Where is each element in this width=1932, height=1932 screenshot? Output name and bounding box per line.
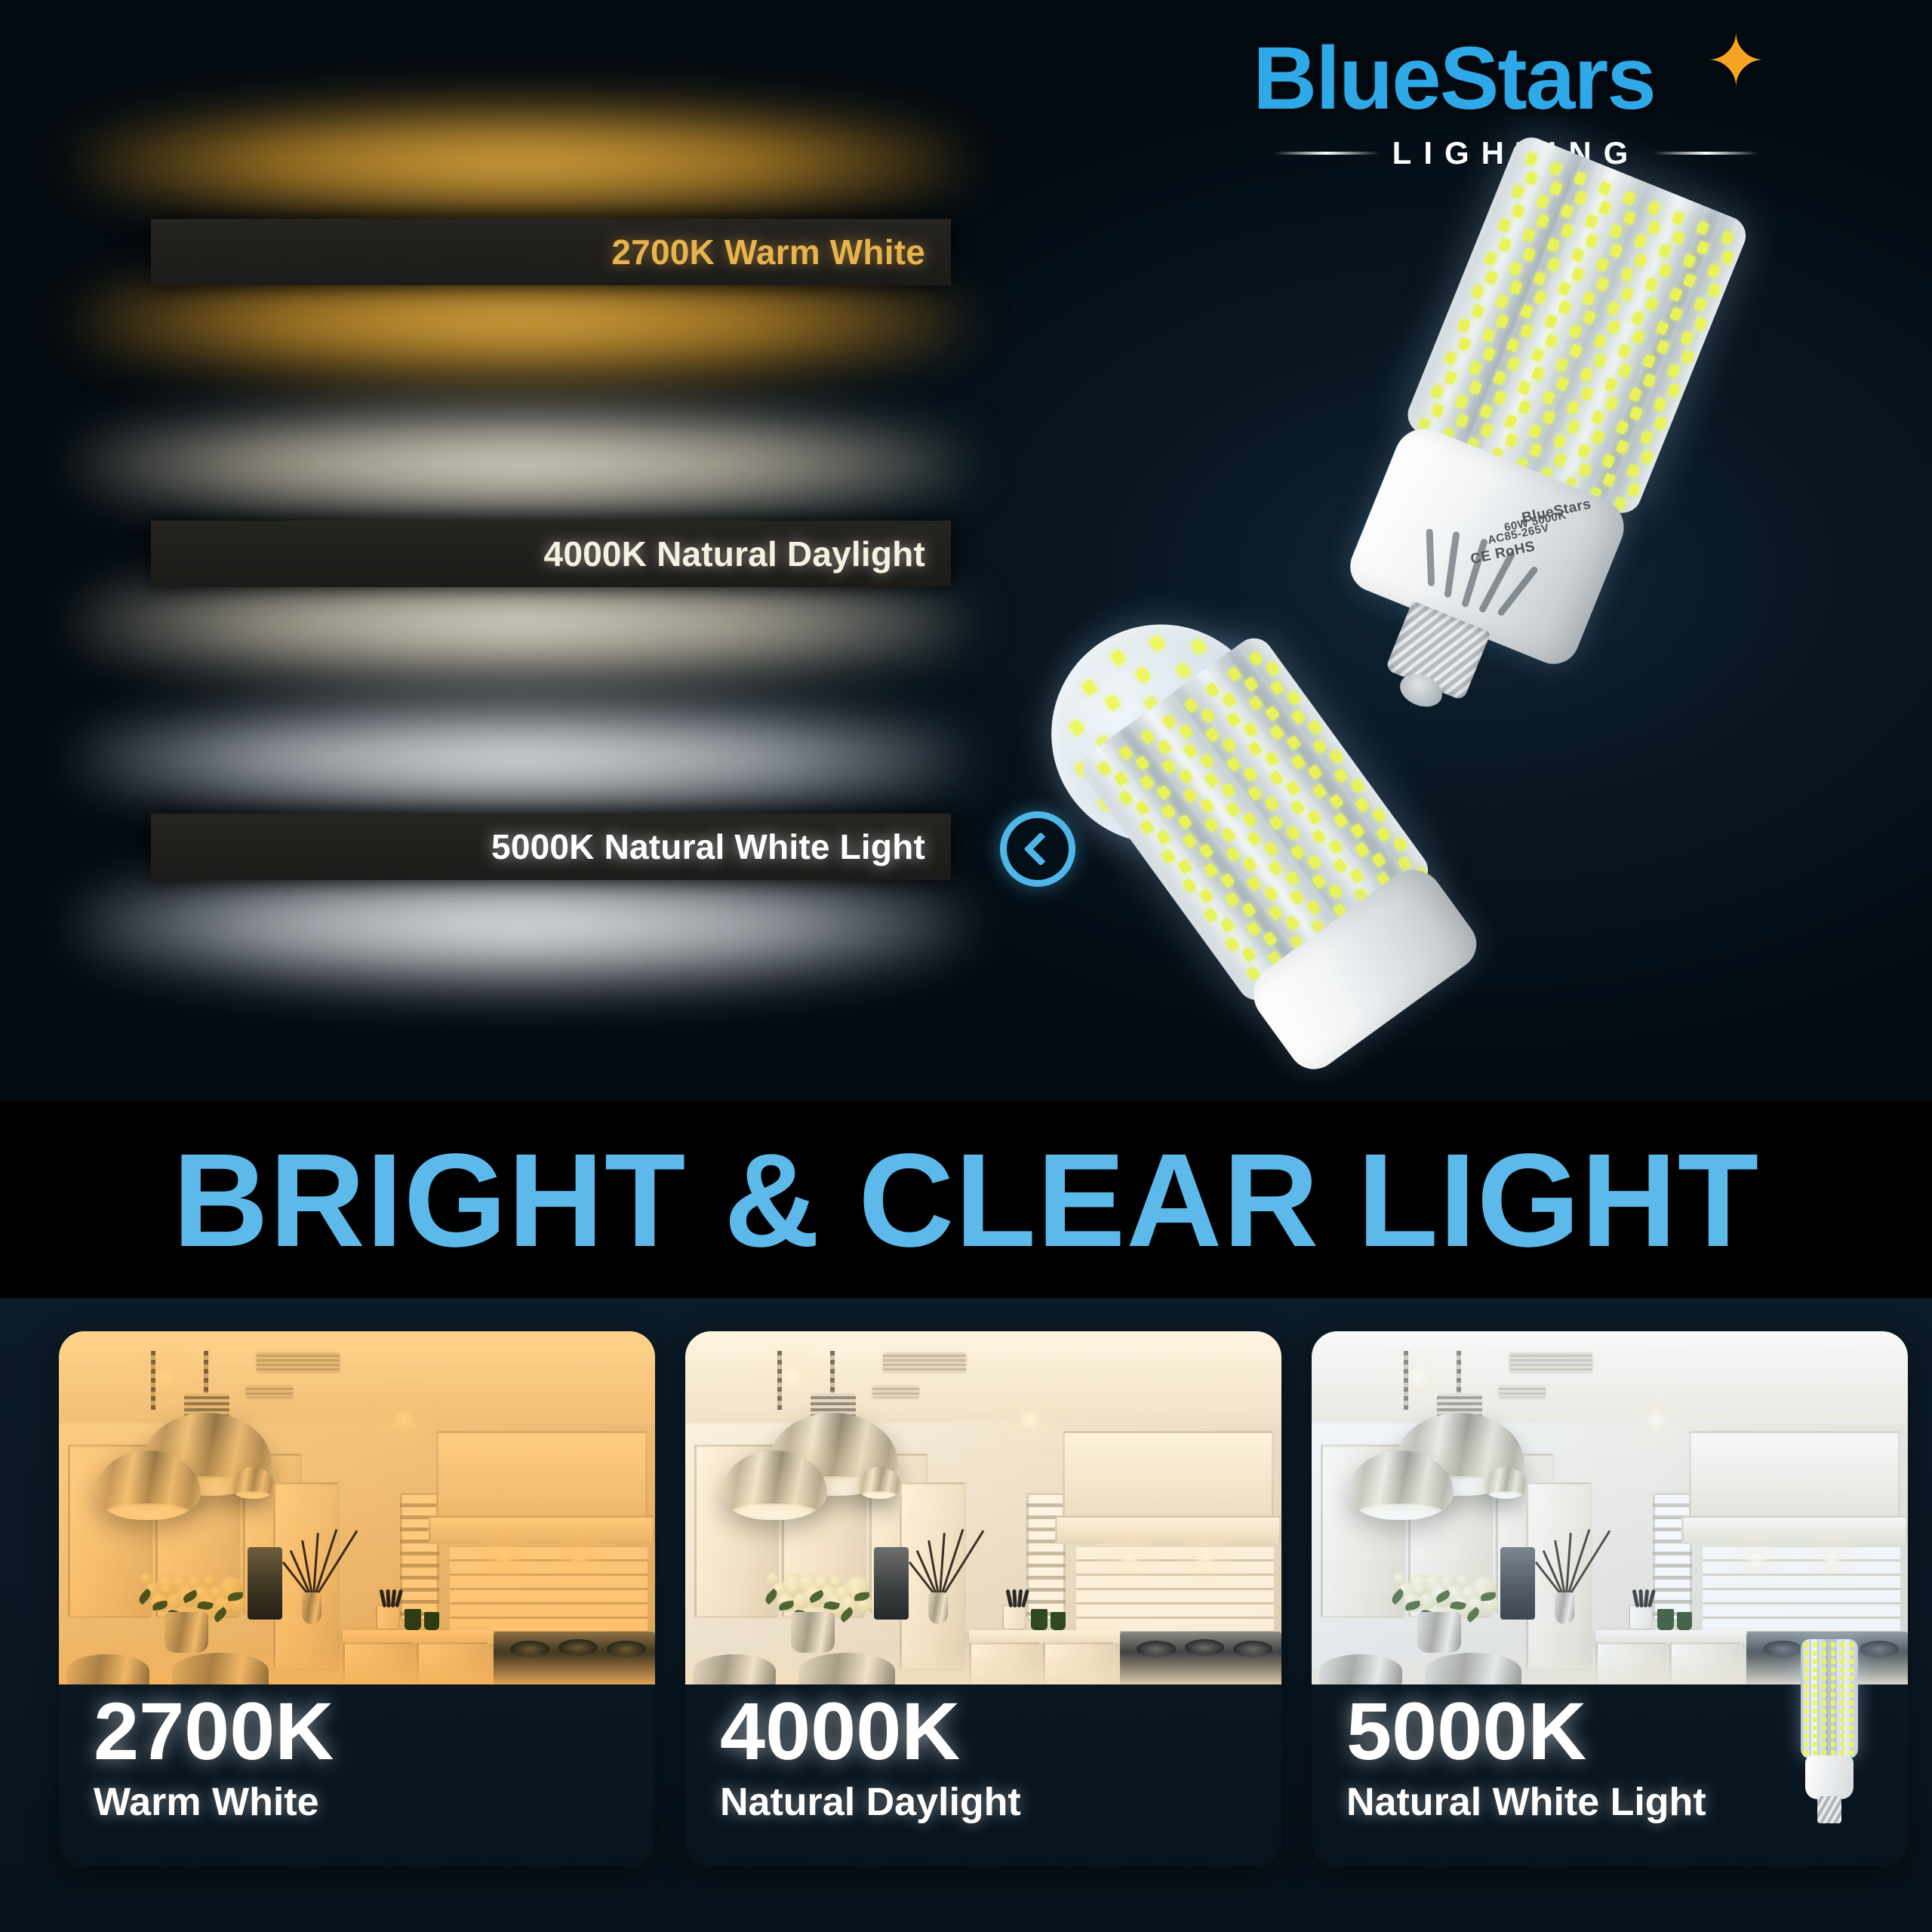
- brand-name: BlueStars: [1253, 34, 1766, 123]
- led-chip: [1081, 679, 1098, 697]
- label-text-4000k: 4000K Natural Daylight: [544, 534, 925, 574]
- led-chip: [1457, 318, 1471, 333]
- led-chip: [1840, 1667, 1844, 1672]
- led-chip: [1644, 297, 1658, 312]
- led-chip: [1591, 410, 1604, 425]
- mini-bulb-base: [1805, 1755, 1854, 1799]
- led-chip: [1222, 692, 1237, 708]
- led-chip: [1822, 1642, 1826, 1647]
- led-chip: [1431, 404, 1444, 419]
- led-chip: [1574, 171, 1587, 186]
- led-chip: [1822, 1700, 1826, 1706]
- led-chip: [1633, 234, 1647, 249]
- led-chip: [1680, 330, 1694, 345]
- led-chip: [1329, 794, 1344, 810]
- led-chip: [1221, 737, 1236, 753]
- led-chip: [1149, 634, 1166, 651]
- led-chip: [1580, 367, 1593, 382]
- led-chip: [1658, 263, 1672, 278]
- led-chip: [1644, 277, 1658, 292]
- led-chip: [1840, 1750, 1844, 1755]
- label-bar-5000k: 5000K Natural White Light: [151, 814, 951, 880]
- led-chip: [1496, 314, 1509, 329]
- led-chip: [1831, 1651, 1835, 1656]
- led-chip: [1263, 841, 1278, 857]
- led-chip: [1183, 743, 1198, 758]
- comparison-card[interactable]: 2700KWarm White: [59, 1331, 655, 1867]
- led-chip: [1204, 727, 1220, 743]
- led-chip: [1560, 205, 1574, 220]
- led-chip: [1204, 817, 1219, 833]
- color-temperature-tint: [59, 1331, 655, 1684]
- led-chip: [1247, 876, 1262, 892]
- led-chip: [1607, 320, 1620, 335]
- led-chip: [1287, 690, 1302, 706]
- led-chip: [1204, 772, 1220, 788]
- led-chip: [1161, 758, 1177, 774]
- led-chip: [1654, 416, 1667, 431]
- led-chip: [1804, 1651, 1808, 1656]
- led-chip: [1593, 353, 1607, 368]
- led-chip: [1494, 390, 1507, 405]
- led-chip: [1542, 390, 1555, 405]
- mini-bulb-cylinder: [1801, 1639, 1858, 1758]
- led-chip: [1623, 191, 1636, 206]
- led-chip: [1161, 713, 1177, 729]
- led-chip: [1355, 842, 1370, 858]
- led-chip: [1203, 907, 1218, 923]
- led-chip: [1647, 220, 1661, 235]
- led-chip: [1225, 891, 1240, 907]
- led-chip: [1642, 373, 1656, 388]
- led-chip: [1285, 825, 1300, 841]
- card-temperature: 4000K: [720, 1690, 1021, 1772]
- led-chip: [1350, 823, 1365, 839]
- led-chip: [1504, 433, 1518, 448]
- led-chip: [1849, 1675, 1854, 1681]
- led-chip: [1509, 281, 1523, 296]
- led-chip: [1849, 1734, 1854, 1739]
- led-chip: [1161, 804, 1176, 820]
- led-chip: [1683, 273, 1697, 288]
- mini-bulb-screw-base: [1817, 1796, 1841, 1823]
- led-chip: [1813, 1659, 1817, 1664]
- led-chip: [1183, 698, 1198, 714]
- led-chip: [1831, 1742, 1835, 1747]
- led-chip: [1707, 263, 1721, 278]
- led-chip: [1707, 283, 1721, 298]
- led-chip: [1813, 1700, 1817, 1706]
- led-chip: [1553, 453, 1567, 468]
- led-chip: [1528, 423, 1542, 438]
- led-chip: [1113, 771, 1128, 787]
- led-chip: [1529, 443, 1543, 458]
- led-chip: [1157, 740, 1172, 755]
- led-chip: [1243, 767, 1258, 783]
- led-chip: [1582, 291, 1595, 306]
- led-chip: [1656, 320, 1669, 335]
- led-chip: [1518, 400, 1531, 415]
- led-chip: [1118, 790, 1133, 806]
- led-chip: [1571, 248, 1585, 263]
- banner-headline: BRIGHT & CLEAR LIGHT: [173, 1124, 1760, 1277]
- led-chip: [1307, 810, 1322, 826]
- glow-band-4000k-upper: [75, 408, 966, 521]
- led-chip: [1822, 1750, 1826, 1755]
- led-chip: [1721, 250, 1734, 265]
- card-label-group: 5000KNatural White Light: [1346, 1690, 1706, 1825]
- led-chip: [1269, 725, 1284, 741]
- led-chip: [1840, 1659, 1844, 1664]
- comparison-card[interactable]: 5000KNatural White Light: [1312, 1331, 1908, 1867]
- star-icon: ✦: [1706, 29, 1774, 97]
- led-chip: [1312, 783, 1327, 799]
- led-chip: [1831, 1717, 1835, 1722]
- led-chip: [1509, 261, 1522, 276]
- label-bar-2700k: 2700K Warm White: [151, 219, 951, 285]
- led-chip: [1225, 847, 1240, 863]
- led-chip: [1247, 786, 1263, 801]
- led-chip: [1840, 1734, 1844, 1739]
- card-description: Warm White: [94, 1780, 334, 1825]
- led-chip: [1804, 1667, 1808, 1672]
- led-chip: [1634, 254, 1647, 269]
- led-chip: [1831, 1709, 1835, 1714]
- headline-banner: BRIGHT & CLEAR LIGHT: [0, 1103, 1932, 1298]
- led-chip: [1291, 799, 1306, 815]
- led-chip: [1813, 1725, 1817, 1730]
- led-chip: [1507, 357, 1521, 372]
- led-chip: [1524, 152, 1538, 167]
- led-chip: [1190, 638, 1207, 655]
- led-chip: [1247, 831, 1262, 847]
- led-chip: [1680, 349, 1694, 365]
- led-chip: [1840, 1742, 1844, 1747]
- led-chip: [1118, 745, 1134, 761]
- led-chip: [1653, 396, 1666, 411]
- led-chip: [1804, 1692, 1808, 1697]
- led-chip: [1179, 724, 1194, 740]
- led-chip: [1531, 367, 1545, 382]
- led-chip: [1813, 1651, 1817, 1656]
- led-chip: [1720, 230, 1734, 245]
- led-chip: [1455, 394, 1469, 409]
- led-chip: [1549, 162, 1563, 177]
- led-chip: [1580, 386, 1594, 401]
- led-chip: [1618, 363, 1632, 378]
- led-chip: [1204, 863, 1219, 878]
- led-chip: [1183, 788, 1198, 804]
- led-chip: [1496, 294, 1509, 309]
- led-chip: [1585, 234, 1598, 249]
- led-chip: [1849, 1684, 1854, 1689]
- led-chip: [1198, 888, 1214, 904]
- led-chip: [1307, 764, 1322, 780]
- card-description: Natural White Light: [1346, 1780, 1706, 1825]
- led-chip: [1290, 844, 1305, 860]
- led-chip: [1312, 829, 1327, 844]
- led-chip: [1642, 353, 1656, 368]
- led-chip: [1672, 211, 1685, 226]
- led-chip: [1355, 797, 1370, 813]
- card-description: Natural Daylight: [720, 1780, 1021, 1825]
- led-chip: [1156, 785, 1171, 801]
- led-chip: [1328, 884, 1343, 900]
- led-chip: [1246, 921, 1261, 937]
- led-chip: [1640, 449, 1654, 464]
- led-chip: [1822, 1717, 1826, 1722]
- led-chip: [1822, 1709, 1826, 1714]
- led-chip: [1840, 1651, 1844, 1656]
- led-chip: [1822, 1651, 1826, 1656]
- led-chip: [1804, 1675, 1808, 1681]
- led-chip: [1629, 406, 1642, 421]
- led-chip: [1469, 380, 1482, 395]
- led-chip: [1199, 798, 1214, 814]
- led-chip: [1696, 240, 1709, 255]
- led-chip: [1484, 251, 1498, 266]
- led-chip: [1639, 430, 1653, 445]
- led-chip: [1804, 1717, 1808, 1722]
- led-chip: [1244, 676, 1259, 692]
- led-chip: [1549, 180, 1563, 195]
- led-chip: [1831, 1750, 1835, 1755]
- led-chip: [1135, 755, 1150, 771]
- cool-tone-overlay: [1312, 1331, 1908, 1684]
- led-chip: [1156, 829, 1171, 845]
- led-chip: [1205, 682, 1220, 698]
- led-chip: [1199, 843, 1214, 859]
- led-chip: [1849, 1700, 1854, 1706]
- led-chip: [1226, 756, 1241, 772]
- led-chip: [1558, 300, 1571, 315]
- led-chip: [1609, 224, 1623, 239]
- led-chip: [1822, 1742, 1826, 1747]
- led-chip: [1269, 770, 1284, 786]
- led-chip: [1224, 937, 1239, 952]
- led-chip: [1840, 1700, 1844, 1706]
- led-chip: [1068, 718, 1085, 736]
- led-chip: [1569, 324, 1583, 339]
- led-chip: [1308, 719, 1323, 735]
- led-chip: [1547, 238, 1561, 253]
- led-chip: [1593, 334, 1607, 349]
- led-chip: [1569, 343, 1583, 358]
- led-chip: [1220, 827, 1235, 843]
- led-chip: [1291, 709, 1306, 725]
- led-chip: [1831, 1659, 1835, 1664]
- led-chip: [1220, 918, 1235, 934]
- led-chip: [1484, 270, 1498, 285]
- led-chip: [1617, 343, 1631, 358]
- led-chip: [1604, 396, 1618, 411]
- led-chip: [1536, 214, 1549, 229]
- led-chip: [1285, 870, 1300, 886]
- led-chip: [1178, 769, 1193, 785]
- led-chip: [1813, 1667, 1817, 1672]
- led-chip: [1558, 281, 1571, 296]
- led-chip: [1333, 858, 1348, 874]
- led-chip: [1804, 1709, 1808, 1714]
- led-chip: [1813, 1675, 1817, 1681]
- led-chip: [1311, 874, 1326, 890]
- led-chip: [1134, 666, 1152, 684]
- led-chip: [1813, 1734, 1817, 1739]
- led-chip: [1471, 285, 1484, 300]
- led-chip: [1571, 267, 1585, 282]
- led-chip: [1804, 1642, 1808, 1647]
- led-chip: [1444, 371, 1458, 386]
- led-chip: [1647, 201, 1660, 216]
- led-chip: [1534, 291, 1547, 306]
- led-chip: [1849, 1742, 1854, 1747]
- led-chip: [1512, 185, 1525, 200]
- led-chip: [1804, 1734, 1808, 1739]
- led-chip: [1598, 181, 1612, 196]
- led-chip: [1522, 228, 1536, 243]
- led-chip: [1268, 860, 1283, 876]
- led-chip: [1567, 420, 1580, 435]
- led-chip: [1849, 1750, 1854, 1755]
- led-chip: [1512, 204, 1525, 219]
- led-chip: [1585, 214, 1598, 229]
- led-chip: [1623, 211, 1636, 226]
- led-chip: [1822, 1734, 1826, 1739]
- led-chip: [1831, 1667, 1835, 1672]
- led-chip: [1458, 337, 1472, 352]
- led-chip: [1542, 410, 1555, 425]
- previous-slide-button[interactable]: [1000, 811, 1075, 887]
- led-chip: [1243, 721, 1258, 737]
- led-chip: [1290, 889, 1305, 905]
- led-chip: [1520, 304, 1534, 319]
- led-chip: [1456, 414, 1469, 429]
- card-temperature: 5000K: [1346, 1690, 1706, 1772]
- led-chip: [1469, 361, 1482, 376]
- glow-band-5000k-upper: [75, 702, 966, 815]
- led-chip: [1506, 337, 1520, 352]
- led-chip: [1531, 347, 1545, 362]
- led-chip: [1813, 1717, 1817, 1722]
- led-chip: [1265, 661, 1280, 677]
- led-chip: [1658, 244, 1672, 259]
- led-chip: [1631, 310, 1644, 325]
- led-chip: [1626, 482, 1640, 497]
- led-chip: [1525, 171, 1539, 186]
- led-chip: [1498, 237, 1512, 252]
- led-chip: [1804, 1700, 1808, 1706]
- led-chip: [1200, 753, 1215, 769]
- led-chip: [1534, 271, 1547, 286]
- led-chip: [1831, 1642, 1835, 1647]
- led-chip: [1566, 400, 1580, 415]
- led-chip: [1822, 1659, 1826, 1664]
- led-chip: [1520, 324, 1534, 339]
- led-chip: [1666, 363, 1680, 378]
- led-chip: [1840, 1642, 1844, 1647]
- led-chip: [1669, 287, 1682, 302]
- led-chip: [1615, 420, 1629, 435]
- led-chip: [1178, 814, 1193, 829]
- led-chip: [1840, 1675, 1844, 1681]
- led-chip: [1103, 694, 1121, 712]
- kitchen-photo: [685, 1331, 1281, 1684]
- led-chip: [1831, 1725, 1835, 1730]
- led-chip: [1544, 314, 1558, 329]
- led-chip: [1813, 1642, 1817, 1647]
- led-chip: [1109, 649, 1127, 666]
- led-chip: [1334, 813, 1349, 829]
- led-chip: [1616, 439, 1629, 454]
- led-chip: [1393, 837, 1408, 853]
- led-chip: [1175, 662, 1192, 679]
- led-chip: [1555, 377, 1569, 392]
- led-chip: [1840, 1717, 1844, 1722]
- led-chip: [1804, 1725, 1808, 1730]
- led-chip: [1504, 414, 1518, 429]
- led-chip: [1480, 404, 1494, 419]
- led-chip: [1831, 1734, 1835, 1739]
- led-chip: [1220, 872, 1235, 888]
- led-chip: [1583, 310, 1596, 325]
- led-chip: [1804, 1742, 1808, 1747]
- led-chip: [1350, 778, 1365, 794]
- kitchen-photo: [1312, 1331, 1908, 1684]
- led-chip: [1849, 1651, 1854, 1656]
- led-chip: [1398, 856, 1413, 872]
- product-bulbs-group: BlueStars 60W 5000K AC85-265V CE RoHS: [1162, 189, 1917, 1057]
- color-temperature-tint: [685, 1331, 1281, 1684]
- led-chip: [1840, 1692, 1844, 1697]
- led-chip: [1263, 931, 1278, 947]
- led-chip: [1626, 463, 1640, 478]
- led-chip: [1620, 287, 1634, 302]
- led-chip: [1263, 886, 1278, 902]
- led-chip: [1241, 902, 1257, 918]
- mini-corn-bulb-icon: [1795, 1639, 1864, 1828]
- led-chip: [1135, 800, 1150, 816]
- led-chip: [1329, 749, 1344, 764]
- led-chip: [1629, 386, 1642, 401]
- led-chip: [1268, 905, 1283, 921]
- led-chip: [1284, 915, 1300, 931]
- led-chip: [1596, 277, 1610, 292]
- led-chip: [1226, 666, 1241, 682]
- tagline-rule-left: [1274, 152, 1379, 155]
- led-chip: [1632, 330, 1645, 345]
- led-chip: [1694, 297, 1707, 312]
- led-chip: [1574, 190, 1588, 205]
- led-chip: [1849, 1717, 1854, 1722]
- led-chip: [1493, 371, 1506, 386]
- led-chip: [1831, 1692, 1835, 1697]
- led-chip: [1831, 1675, 1835, 1681]
- led-chip: [1536, 195, 1549, 210]
- led-chip: [1696, 220, 1709, 235]
- led-chip: [1306, 900, 1321, 915]
- led-chip: [1553, 433, 1567, 448]
- card-label-group: 2700KWarm White: [94, 1690, 334, 1825]
- room-comparison-section: 2700KWarm White4000KNatural Daylight5000…: [0, 1298, 1932, 1932]
- led-chip: [1183, 833, 1198, 849]
- led-chip: [1840, 1684, 1844, 1689]
- led-chip: [1264, 751, 1279, 767]
- comparison-card[interactable]: 4000KNatural Daylight: [685, 1331, 1281, 1867]
- led-chip: [1602, 472, 1616, 488]
- led-chip: [1349, 868, 1364, 884]
- led-chip: [1376, 826, 1391, 842]
- led-chip: [1247, 740, 1263, 756]
